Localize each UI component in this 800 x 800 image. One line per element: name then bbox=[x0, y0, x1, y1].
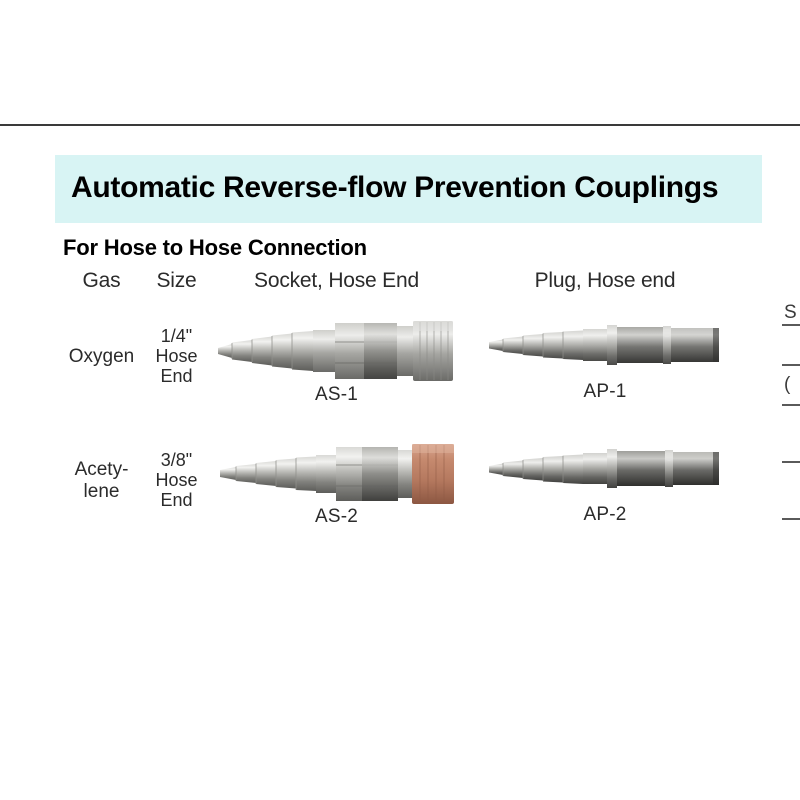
cell-plug-ap2: AP-2 bbox=[468, 421, 742, 541]
cell-socket-as1: AS-1 bbox=[205, 293, 468, 421]
clipped-adjacent-table: S ( bbox=[782, 290, 800, 520]
edge-fragment-row: ( bbox=[782, 366, 800, 406]
size-line: End bbox=[148, 491, 205, 511]
page-title: Automatic Reverse-flow Prevention Coupli… bbox=[71, 169, 746, 207]
socket-coupling-image-as1 bbox=[212, 308, 462, 382]
column-header-plug: Plug, Hose end bbox=[468, 269, 742, 293]
part-number-ap2: AP-2 bbox=[583, 504, 626, 526]
title-banner: Automatic Reverse-flow Prevention Coupli… bbox=[55, 155, 762, 223]
cell-gas-acetylene: Acety- lene bbox=[55, 421, 148, 541]
edge-fragment-row bbox=[782, 406, 800, 463]
page-top-rule bbox=[0, 124, 800, 126]
table-row-oxygen: Oxygen 1/4" Hose End bbox=[55, 293, 742, 421]
table-row-acetylene: Acety- lene 3/8" Hose End bbox=[55, 421, 742, 541]
part-number-ap1: AP-1 bbox=[583, 381, 626, 403]
plug-coupling-image-ap2 bbox=[485, 436, 725, 502]
cell-size-acetylene: 3/8" Hose End bbox=[148, 421, 205, 541]
size-line: End bbox=[148, 367, 205, 387]
section-subtitle: For Hose to Hose Connection bbox=[63, 235, 762, 261]
table-header-row: Gas Size Socket, Hose End Plug, Hose end bbox=[55, 269, 742, 293]
edge-fragment-row: S bbox=[782, 290, 800, 326]
size-line: 3/8" bbox=[148, 451, 205, 471]
cell-size-oxygen: 1/4" Hose End bbox=[148, 293, 205, 421]
edge-fragment-row bbox=[782, 326, 800, 366]
part-number-as1: AS-1 bbox=[315, 384, 358, 406]
part-number-as2: AS-2 bbox=[315, 506, 358, 528]
column-header-gas: Gas bbox=[55, 269, 148, 293]
catalog-sheet: Automatic Reverse-flow Prevention Coupli… bbox=[55, 155, 762, 541]
size-line: 1/4" bbox=[148, 327, 205, 347]
column-header-size: Size bbox=[148, 269, 205, 293]
socket-coupling-image-as2 bbox=[212, 434, 462, 504]
cell-plug-ap1: AP-1 bbox=[468, 293, 742, 421]
cell-gas-oxygen: Oxygen bbox=[55, 293, 148, 421]
size-line: Hose bbox=[148, 471, 205, 491]
column-header-socket: Socket, Hose End bbox=[205, 269, 468, 293]
gas-line: Acety- bbox=[55, 459, 148, 481]
size-line: Hose bbox=[148, 347, 205, 367]
plug-coupling-image-ap1 bbox=[485, 311, 725, 379]
gas-line: lene bbox=[55, 481, 148, 503]
edge-fragment-row bbox=[782, 463, 800, 520]
coupling-spec-table: Gas Size Socket, Hose End Plug, Hose end… bbox=[55, 269, 742, 541]
cell-socket-as2: AS-2 bbox=[205, 421, 468, 541]
